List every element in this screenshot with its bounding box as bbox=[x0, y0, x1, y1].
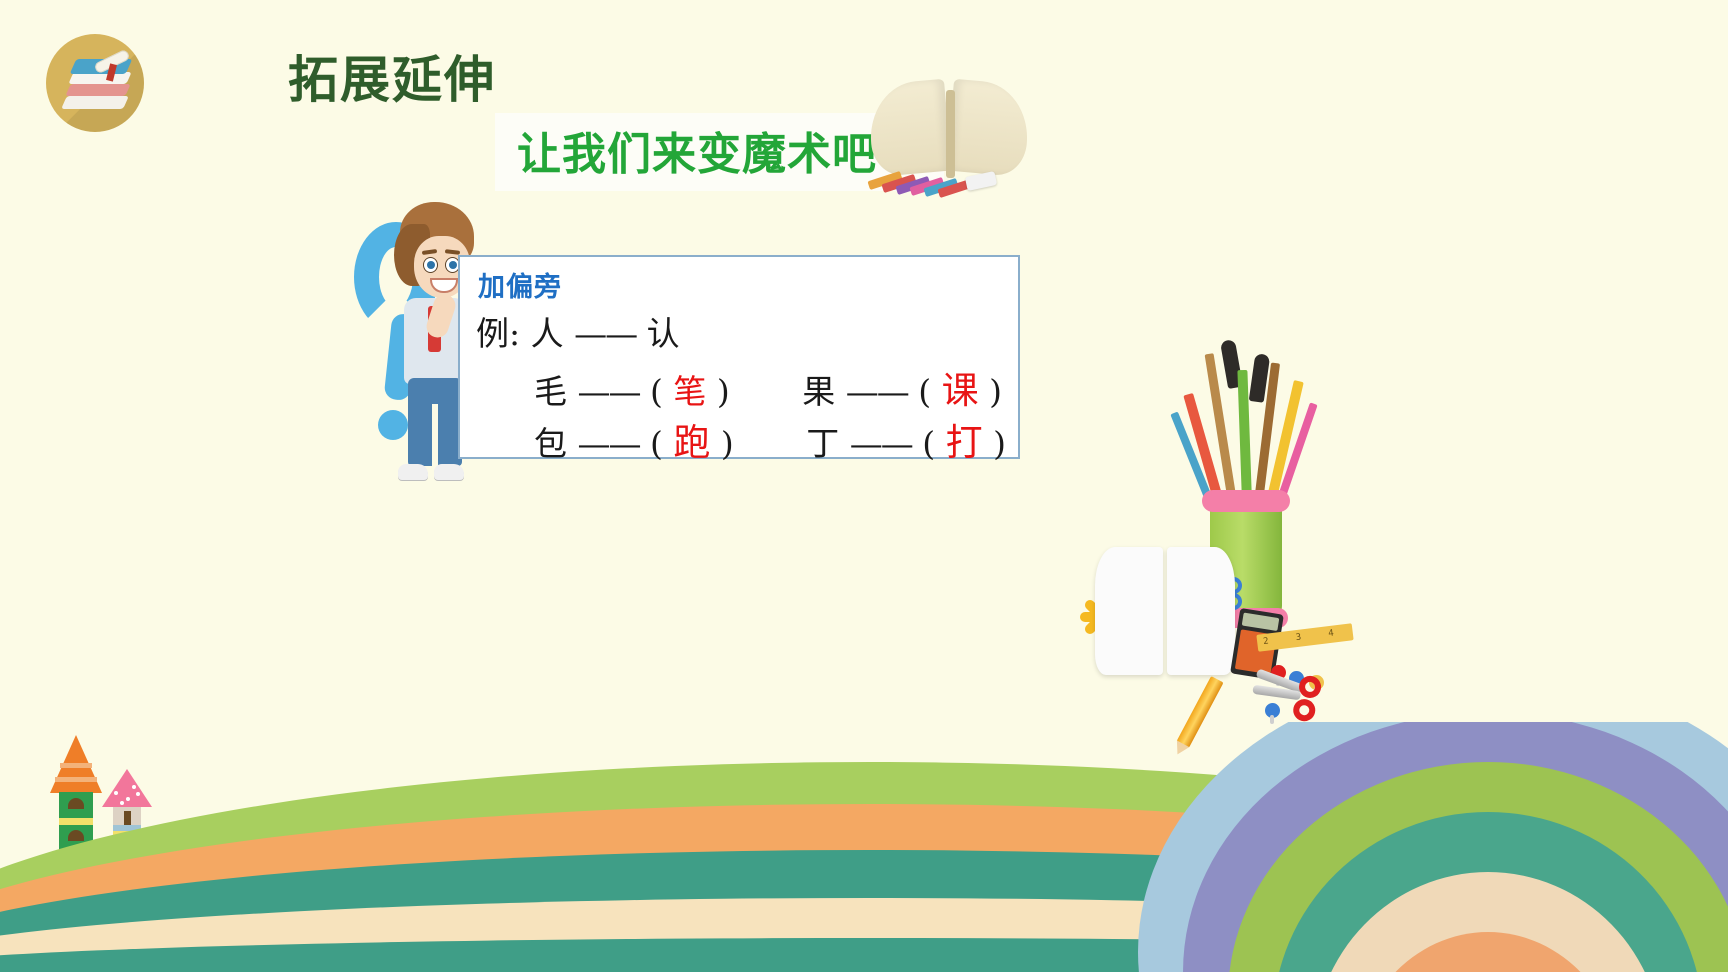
row-answer: 课 bbox=[942, 369, 979, 412]
stacked-books-icon bbox=[46, 34, 144, 132]
cup-rim bbox=[1202, 490, 1290, 512]
book-page-left bbox=[866, 79, 952, 177]
boy-shoe bbox=[434, 464, 464, 480]
open-book-icon bbox=[862, 78, 1042, 198]
row-dash: —— bbox=[578, 424, 640, 463]
boy-pants bbox=[408, 378, 462, 466]
book-page-left bbox=[1095, 547, 1163, 675]
row-base: 丁 bbox=[806, 424, 839, 463]
row-base: 果 bbox=[802, 372, 835, 411]
row-bracket-open: ( bbox=[922, 424, 935, 463]
school-supplies-icon: 2 3 4 bbox=[1075, 525, 1345, 740]
exercise-heading: 加偏旁 bbox=[478, 265, 562, 304]
exercise-box: 加偏旁 例: 人 —— 认 毛 —— ( 笔 ) 果 —— ( 课 ) 包 ——… bbox=[458, 255, 1020, 459]
row-label: 例: bbox=[476, 314, 520, 353]
row-bracket-close: ) bbox=[993, 424, 1006, 463]
exercise-row: 例: 人 —— 认 bbox=[476, 307, 680, 355]
row-answer: 认 bbox=[647, 314, 680, 353]
question-boy-illustration bbox=[352, 200, 472, 490]
row-answer: 跑 bbox=[673, 421, 710, 464]
book-page-right bbox=[1167, 547, 1235, 675]
row-bracket-open: ( bbox=[650, 372, 663, 411]
row-dash: —— bbox=[850, 424, 912, 463]
slide-canvas: 拓展延伸 让我们来变魔术吧！ bbox=[0, 0, 1728, 972]
row-base: 毛 bbox=[534, 372, 567, 411]
rainbow-arcs-decoration bbox=[1138, 722, 1728, 972]
exercise-row: 毛 —— ( 笔 ) 果 —— ( 课 ) bbox=[534, 360, 1002, 414]
exercise-row: 包 —— ( 跑 ) 丁 —— ( 打 ) bbox=[534, 412, 1006, 466]
row-dash: —— bbox=[846, 372, 908, 411]
book-spine bbox=[946, 90, 955, 178]
row-bracket-open: ( bbox=[650, 424, 663, 463]
book-layer bbox=[65, 84, 130, 96]
row-bracket-close: ) bbox=[989, 372, 1002, 411]
row-base: 人 bbox=[531, 314, 564, 353]
row-dash: —— bbox=[574, 314, 636, 353]
row-answer: 打 bbox=[946, 421, 983, 464]
book-page-right bbox=[946, 79, 1032, 177]
row-bracket-close: ) bbox=[721, 424, 734, 463]
row-bracket-close: ) bbox=[717, 372, 730, 411]
boy-shoe bbox=[398, 464, 428, 480]
row-dash: —— bbox=[578, 372, 640, 411]
boy-eye bbox=[424, 258, 437, 272]
row-answer: 笔 bbox=[673, 372, 706, 411]
book-layer bbox=[61, 96, 129, 109]
page-title: 拓展延伸 bbox=[288, 40, 496, 112]
row-bracket-open: ( bbox=[918, 372, 931, 411]
row-base: 包 bbox=[534, 424, 567, 463]
